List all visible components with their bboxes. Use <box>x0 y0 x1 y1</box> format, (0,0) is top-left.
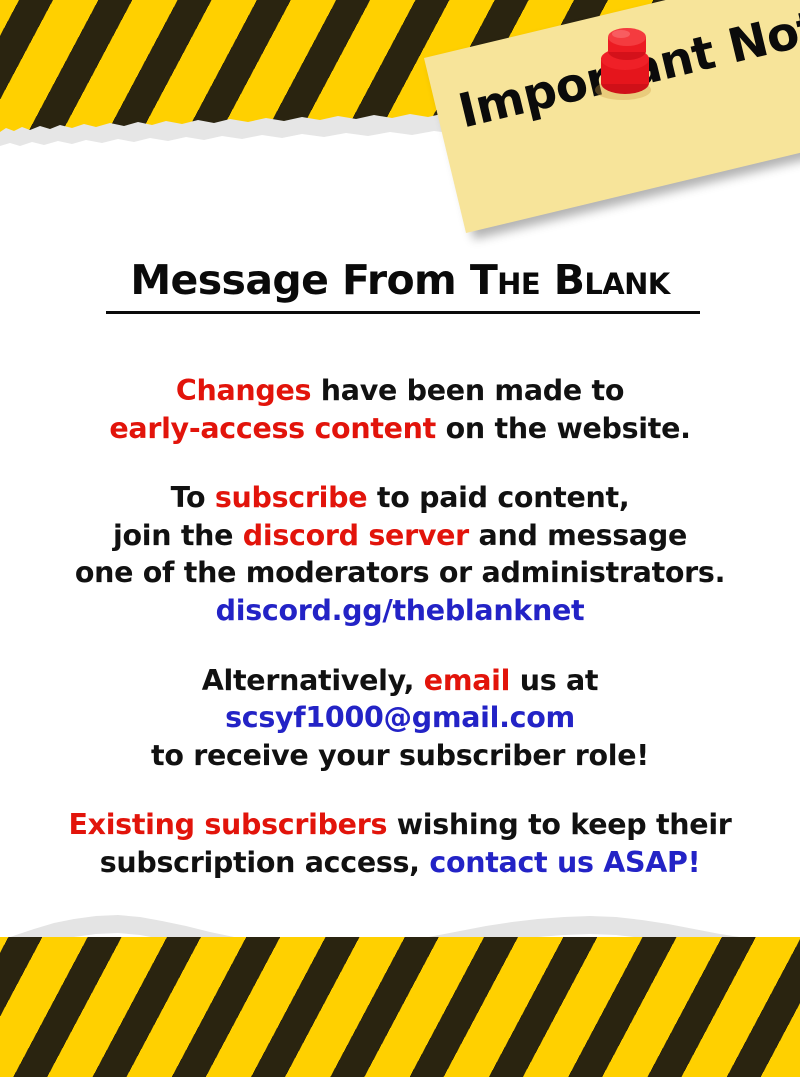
text-run-black: on the website. <box>436 412 691 445</box>
subscribe-paragraph: To subscribe to paid content,join the di… <box>0 479 800 629</box>
pushpin-icon <box>583 20 669 106</box>
text-run-black: to paid content, <box>367 481 629 514</box>
email-paragraph: Alternatively, email us atscsyf1000@gmai… <box>0 662 800 775</box>
hazard-stripe-band-bottom <box>0 937 800 1077</box>
text-run-black: us at <box>510 664 598 697</box>
text-run-black: Alternatively, <box>202 664 424 697</box>
existing-subscribers-paragraph: Existing subscribers wishing to keep the… <box>0 806 800 881</box>
page-title-prefix: Message From <box>130 256 469 304</box>
notice-line: one of the moderators or administrators. <box>0 554 800 592</box>
page-title-brand: The Blank <box>470 256 670 304</box>
text-run-red: early-access content <box>109 412 436 445</box>
text-run-black: subscription access, <box>100 846 430 879</box>
notice-line: subscription access, contact us ASAP! <box>0 844 800 882</box>
text-run-red: Existing subscribers <box>68 808 387 841</box>
important-notice-poster: Important Notice Message From The Blank … <box>0 0 800 1077</box>
changes-paragraph: Changes have been made toearly-access co… <box>0 372 800 447</box>
notice-line: discord.gg/theblanknet <box>0 592 800 630</box>
notice-line: Alternatively, email us at <box>0 662 800 700</box>
title-underline-rule <box>106 311 700 314</box>
text-run-black: To <box>171 481 215 514</box>
text-run-blue[interactable]: scsyf1000@gmail.com <box>225 701 575 734</box>
text-run-black: join the <box>113 519 243 552</box>
text-run-black: and message <box>469 519 687 552</box>
notice-line: to receive your subscriber role! <box>0 737 800 775</box>
notice-line: join the discord server and message <box>0 517 800 555</box>
text-run-blue[interactable]: contact us ASAP! <box>429 846 700 879</box>
notice-line: To subscribe to paid content, <box>0 479 800 517</box>
text-run-blue[interactable]: discord.gg/theblanknet <box>216 594 585 627</box>
text-run-black: one of the moderators or administrators. <box>75 556 725 589</box>
text-run-red: Changes <box>176 374 311 407</box>
notice-line: Existing subscribers wishing to keep the… <box>0 806 800 844</box>
notice-line: scsyf1000@gmail.com <box>0 699 800 737</box>
text-run-red: discord server <box>243 519 469 552</box>
text-run-black: have been made to <box>311 374 624 407</box>
text-run-black: to receive your subscriber role! <box>151 739 649 772</box>
page-title: Message From The Blank <box>0 258 800 303</box>
notice-body: Changes have been made toearly-access co… <box>0 372 800 882</box>
notice-line: Changes have been made to <box>0 372 800 410</box>
text-run-black: wishing to keep their <box>387 808 731 841</box>
text-run-red: subscribe <box>215 481 367 514</box>
text-run-red: email <box>424 664 510 697</box>
notice-line: early-access content on the website. <box>0 410 800 448</box>
